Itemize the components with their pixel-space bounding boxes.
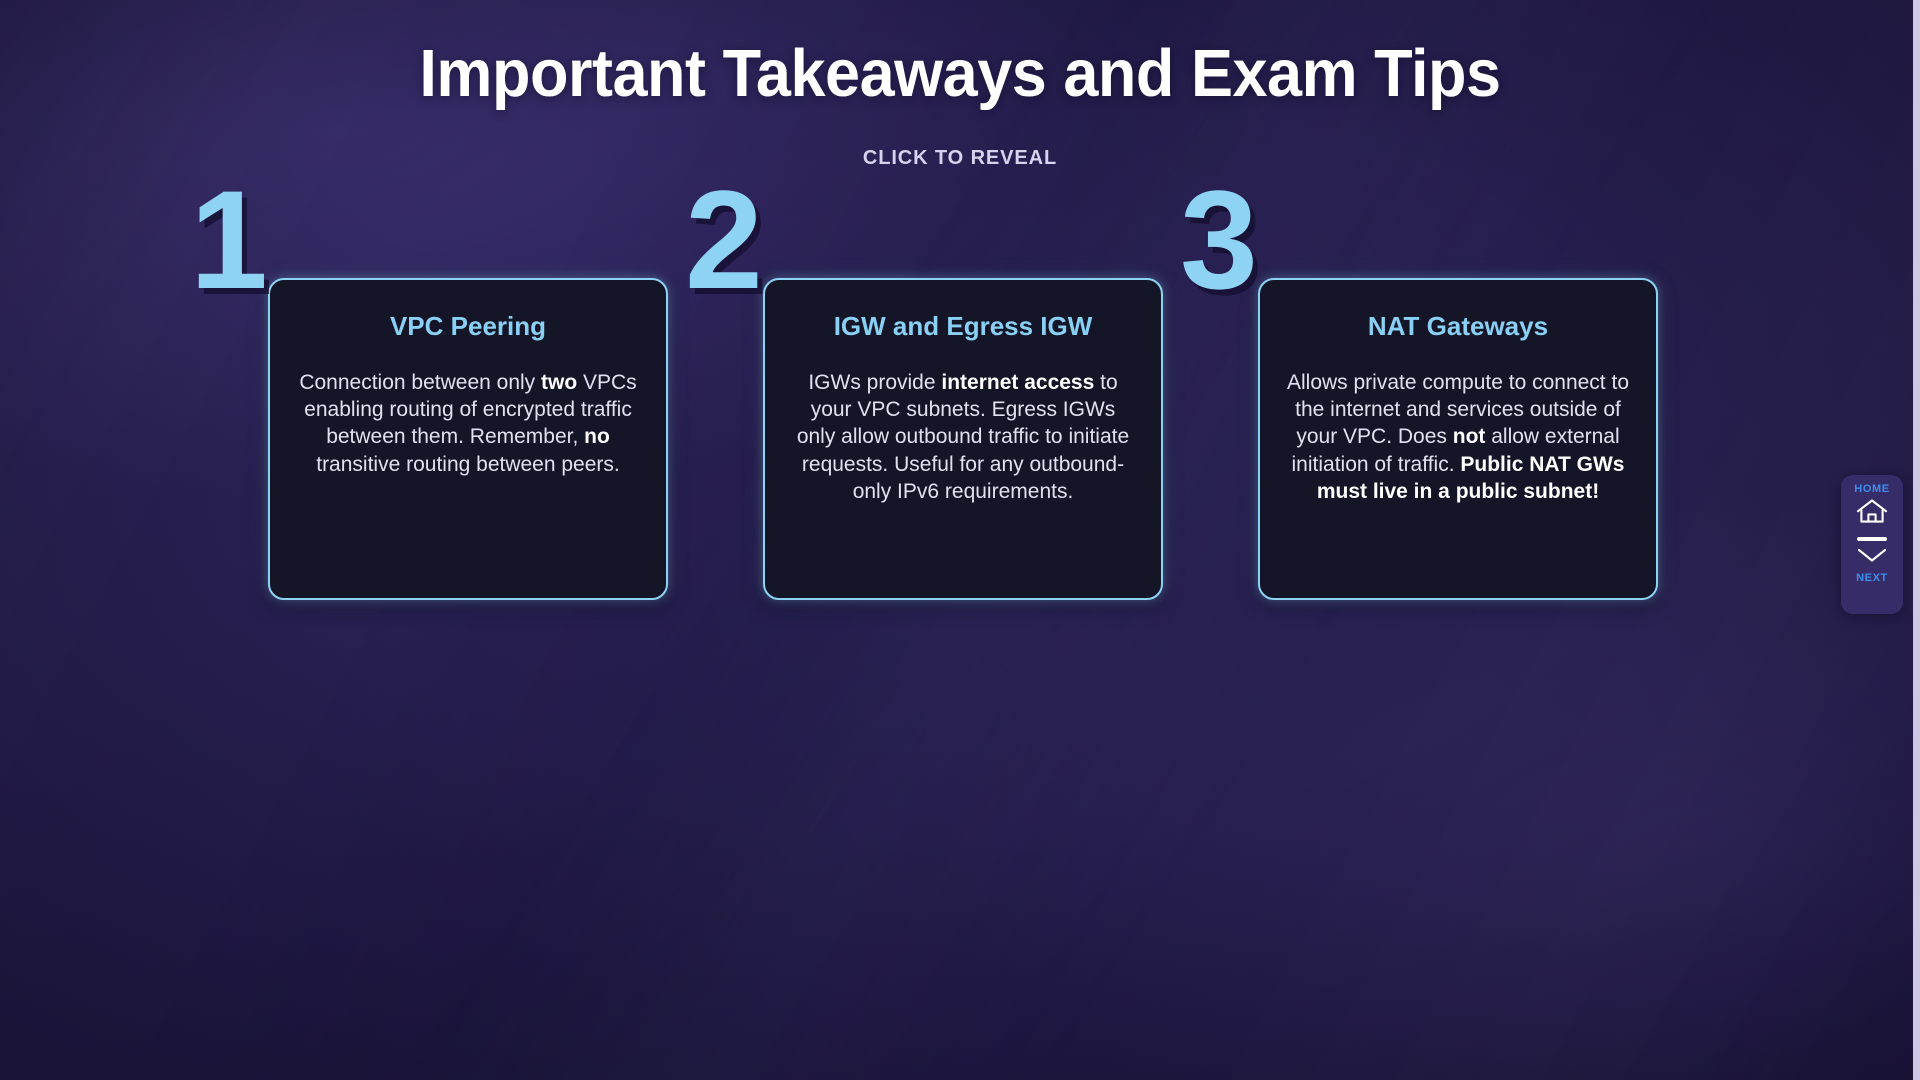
takeaway-card-row: 1 VPC Peering Connection between only tw… (268, 278, 1658, 600)
card-title-2: IGW and Egress IGW (834, 312, 1093, 342)
card-body-1: Connection between only two VPCs enablin… (294, 369, 642, 478)
slide-stage: Important Takeaways and Exam Tips CLICK … (0, 0, 1920, 1080)
home-label: HOME (1854, 483, 1889, 495)
next-button[interactable]: NEXT (1855, 545, 1889, 584)
takeaway-card-1[interactable]: 1 VPC Peering Connection between only tw… (268, 278, 668, 600)
slide-nav-widget: HOME NEXT (1841, 475, 1903, 614)
card-content-1: VPC Peering Connection between only two … (268, 278, 668, 600)
chevron-down-icon (1855, 545, 1889, 570)
house-icon (1855, 498, 1889, 530)
card-body-2: IGWs provide internet access to your VPC… (789, 369, 1137, 505)
card-content-2: IGW and Egress IGW IGWs provide internet… (763, 278, 1163, 600)
card-number-3: 3 (1180, 170, 1258, 310)
home-button[interactable]: HOME (1854, 483, 1889, 530)
next-label: NEXT (1856, 572, 1888, 584)
page-title: Important Takeaways and Exam Tips (58, 40, 1863, 107)
card-title-1: VPC Peering (390, 312, 546, 342)
page-subtitle: CLICK TO REVEAL (0, 147, 1920, 170)
card-number-2: 2 (685, 170, 763, 310)
card-number-1: 1 (190, 170, 268, 310)
card-title-3: NAT Gateways (1368, 312, 1548, 342)
takeaway-card-3[interactable]: 3 NAT Gateways Allows private compute to… (1258, 278, 1658, 600)
card-body-3: Allows private compute to connect to the… (1284, 369, 1632, 505)
card-content-3: NAT Gateways Allows private compute to c… (1258, 278, 1658, 600)
divider-bar (1857, 537, 1887, 541)
takeaway-card-2[interactable]: 2 IGW and Egress IGW IGWs provide intern… (763, 278, 1163, 600)
